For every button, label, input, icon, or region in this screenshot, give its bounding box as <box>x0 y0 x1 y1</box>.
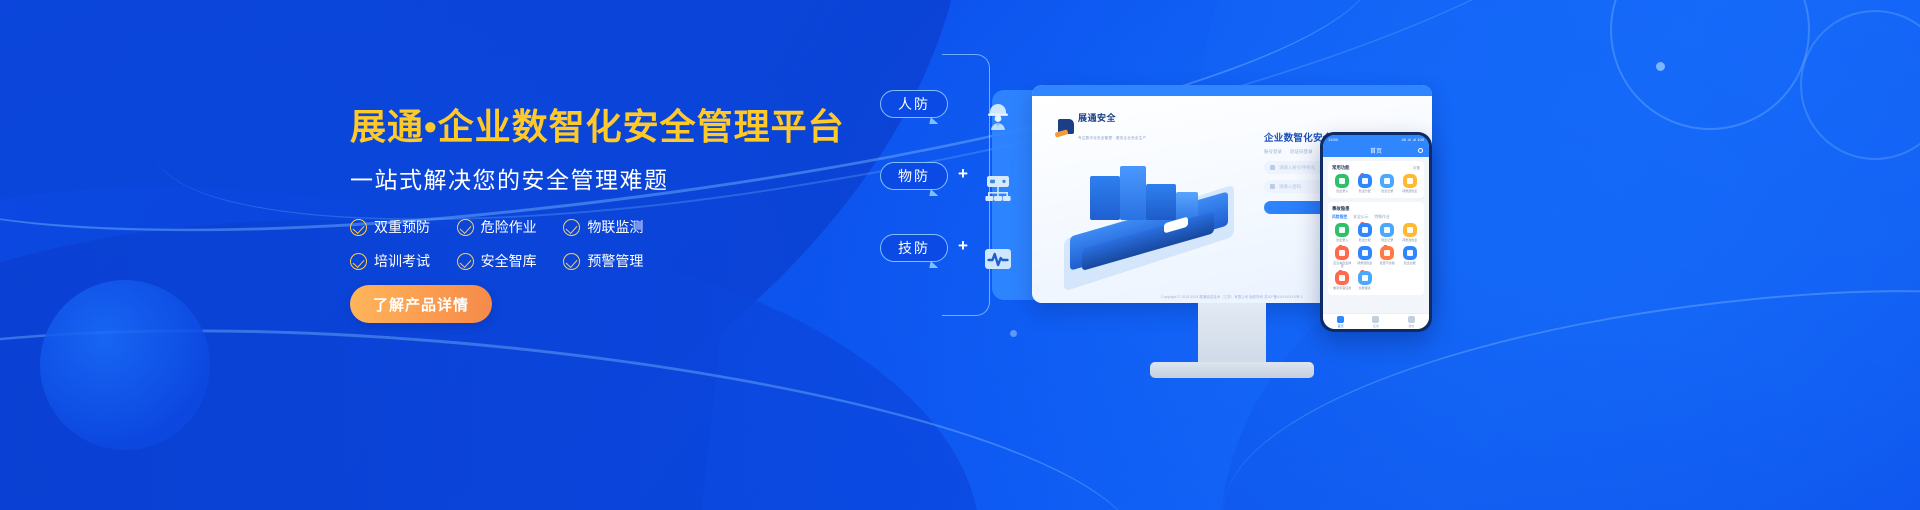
app-icon <box>1380 174 1394 188</box>
tab-home[interactable]: 首页 <box>1337 316 1344 328</box>
app-icon <box>1335 174 1349 188</box>
lock-icon <box>1270 184 1275 189</box>
feature-item: 安全智库 <box>457 251 564 271</box>
login-tab-code[interactable]: 验证码登录 <box>1290 149 1313 155</box>
risk-tabs: 风险管控 安全公示 特殊作业 <box>1332 215 1420 220</box>
app-tile[interactable]: 待整改隐患 <box>1400 174 1421 193</box>
feature-item: 物联监测 <box>563 217 670 237</box>
monitor-stand-neck <box>1198 303 1266 365</box>
page-title: 展通•企业数智化安全管理平台 <box>350 104 910 149</box>
status-time: 13:50 <box>1328 137 1338 142</box>
feature-item: 双重预防 <box>350 217 457 237</box>
section-more-link[interactable]: 设置 <box>1413 166 1420 171</box>
screen-topbar <box>1032 85 1432 96</box>
app-label: 台账报表 <box>1359 287 1371 290</box>
app-tile[interactable]: 隐患记录 <box>1377 174 1398 193</box>
feature-row: 培训考试 安全智库 预警管理 <box>350 251 670 271</box>
section-title: 事故隐患 <box>1332 206 1350 212</box>
app-tile[interactable]: 2 复查不合格 <box>1377 246 1398 269</box>
server-network-icon <box>976 167 1020 209</box>
iso-building <box>1090 176 1120 220</box>
login-tab-account[interactable]: 账号登录 <box>1264 149 1282 155</box>
app-tile[interactable]: 待整改隐患 <box>1400 223 1421 242</box>
app-tile[interactable]: 隐患录入 <box>1332 223 1353 242</box>
app-label: 待整改隐患 <box>1357 262 1372 265</box>
app-label: 待整改隐患 <box>1402 239 1417 242</box>
monitor-stand-base <box>1150 362 1314 378</box>
risk-function-grid: 隐患录入 3 隐患分配 隐患记录 待整改隐 <box>1332 223 1420 290</box>
feature-item: 培训考试 <box>350 251 457 271</box>
check-circle-icon <box>457 219 474 236</box>
app-icon <box>1403 246 1417 260</box>
check-circle-icon <box>563 253 580 270</box>
app-tile[interactable]: 6 台账报表 <box>1355 271 1376 290</box>
home-icon <box>1337 316 1344 323</box>
app-icon <box>1380 246 1394 260</box>
person-icon <box>1408 316 1415 323</box>
risk-tab[interactable]: 特殊作业 <box>1374 215 1389 220</box>
app-tile[interactable]: 隐患记录 <box>1377 223 1398 242</box>
tab-tasks[interactable]: 任务 <box>1372 316 1379 328</box>
plus-operator-icon: + <box>958 164 968 184</box>
check-circle-icon <box>350 253 367 270</box>
feature-item: 预警管理 <box>563 251 670 271</box>
check-circle-icon <box>350 219 367 236</box>
app-label: 隐患分配 <box>1359 190 1371 193</box>
phone-status-bar: 13:50 46 .ıll .ıll 100 <box>1323 135 1429 144</box>
feature-label: 安全智库 <box>481 251 537 271</box>
app-label: 隐患记录 <box>1381 239 1393 242</box>
hero-banner: 展通•企业数智化安全管理平台 一站式解决您的安全管理难题 双重预防 危险作业 物… <box>0 0 1920 510</box>
feature-label: 危险作业 <box>481 217 537 237</box>
gear-icon[interactable] <box>1418 148 1423 153</box>
app-tile[interactable]: 3 隐患分配 <box>1355 223 1376 242</box>
app-label: 隐患分配 <box>1359 239 1371 242</box>
feature-list: 双重预防 危险作业 物联监测 培训考试 安全智库 <box>350 217 670 271</box>
app-icon <box>1358 246 1372 260</box>
app-label: 应急本隐患排查 <box>1332 262 1353 269</box>
feature-item: 危险作业 <box>457 217 564 237</box>
common-function-grid: 隐患录入 3 隐患分配 隐患记录 待整改隐 <box>1332 174 1420 193</box>
tab-profile[interactable]: 我的 <box>1408 316 1415 328</box>
app-icon <box>1380 223 1394 237</box>
phone-screen: 13:50 46 .ıll .ıll 100 首页 常用功能 设置 <box>1323 135 1429 329</box>
app-label: 隐患记录 <box>1381 190 1393 193</box>
iso-building <box>1146 184 1176 220</box>
plus-operator-icon: + <box>958 236 968 256</box>
feature-label: 物联监测 <box>587 217 643 237</box>
tab-label: 任务 <box>1373 324 1379 328</box>
tab-label: 我的 <box>1408 324 1414 328</box>
pulse-monitor-icon <box>976 239 1020 281</box>
app-icon <box>1358 223 1372 237</box>
check-circle-icon <box>457 253 474 270</box>
app-tile[interactable]: 3 隐患分配 <box>1355 174 1376 193</box>
password-placeholder: 请输入密码 <box>1279 184 1301 190</box>
pillar-label: 物防 <box>898 166 930 186</box>
hero-copy: 展通•企业数智化安全管理平台 一站式解决您的安全管理难题 双重预防 危险作业 物… <box>350 104 910 323</box>
app-tile[interactable]: 隐患台账 <box>1400 246 1421 269</box>
app-label: 复查不合格 <box>1380 262 1395 265</box>
iso-building <box>1120 166 1146 220</box>
app-icon <box>1335 271 1349 285</box>
app-icon <box>1403 174 1417 188</box>
learn-more-button[interactable]: 了解产品详情 <box>350 285 492 323</box>
app-label: 待整改隐患 <box>1402 190 1417 193</box>
phone-nav-title: 首页 <box>1370 146 1382 155</box>
pillar-label: 人防 <box>898 94 930 114</box>
tab-label: 首页 <box>1338 324 1344 328</box>
risk-tab[interactable]: 风险管控 <box>1332 215 1347 220</box>
app-icon <box>1335 223 1349 237</box>
mobile-phone: 13:50 46 .ıll .ıll 100 首页 常用功能 设置 <box>1320 132 1432 332</box>
phone-section-risk: 事故隐患 风险管控 安全公示 特殊作业 隐患录入 3 <box>1328 202 1424 295</box>
isometric-illustration <box>1056 158 1246 268</box>
feature-label: 双重预防 <box>374 217 430 237</box>
bg-circle-left <box>40 280 210 450</box>
app-tile[interactable]: 隐患录入 <box>1332 174 1353 193</box>
username-placeholder: 请输入账号/手机号 <box>1279 165 1315 171</box>
tasks-icon <box>1372 316 1379 323</box>
pillar-badge-renfang[interactable]: 人防 <box>880 90 948 118</box>
brand-mark-icon <box>1058 119 1074 134</box>
phone-tab-bar: 首页 任务 我的 <box>1323 313 1429 329</box>
user-icon <box>1270 165 1275 170</box>
page-subtitle: 一站式解决您的安全管理难题 <box>350 161 910 195</box>
app-icon <box>1335 246 1349 260</box>
section-header: 常用功能 设置 <box>1332 165 1420 171</box>
app-icon <box>1403 223 1417 237</box>
risk-tab[interactable]: 安全公示 <box>1353 215 1368 220</box>
app-icon <box>1358 174 1372 188</box>
check-circle-icon <box>563 219 580 236</box>
section-header: 事故隐患 <box>1332 206 1420 212</box>
feature-label: 培训考试 <box>374 251 430 271</box>
app-label: 隐患台账 <box>1404 262 1416 265</box>
app-icon <box>1358 271 1372 285</box>
status-indicators: 46 .ıll .ıll 100 <box>1402 137 1424 142</box>
app-label: 隐患录入 <box>1336 190 1348 193</box>
worker-helmet-icon <box>976 95 1020 137</box>
pillar-label: 技防 <box>898 238 930 258</box>
phone-nav-bar: 首页 <box>1323 144 1429 157</box>
desktop-logo-subtext: 专注数字化安全管理 · 服务企业安全生产 <box>1078 136 1146 140</box>
product-illustration: 人防 物防 技防 + + <box>880 40 1890 470</box>
section-title: 常用功能 <box>1332 165 1350 171</box>
phone-section-common: 常用功能 设置 隐患录入 3 隐患分配 <box>1328 161 1424 198</box>
app-tile[interactable]: 1 制定年度任务 <box>1332 271 1353 290</box>
app-label: 制定年度任务 <box>1333 287 1351 290</box>
desktop-logo-text: 展通安全 <box>1078 113 1116 123</box>
app-label: 隐患录入 <box>1336 239 1348 242</box>
pillar-badge-wufang[interactable]: 物防 <box>880 162 948 190</box>
pillar-badge-jifang[interactable]: 技防 <box>880 234 948 262</box>
app-tile[interactable]: 1 应急本隐患排查 <box>1332 246 1353 269</box>
feature-row: 双重预防 危险作业 物联监测 <box>350 217 670 237</box>
desktop-logo: 展通安全 专注数字化安全管理 · 服务企业安全生产 <box>1058 108 1146 144</box>
pillar-icons <box>976 95 1022 315</box>
app-tile[interactable]: 待整改隐患 <box>1355 246 1376 269</box>
feature-label: 预警管理 <box>587 251 643 271</box>
